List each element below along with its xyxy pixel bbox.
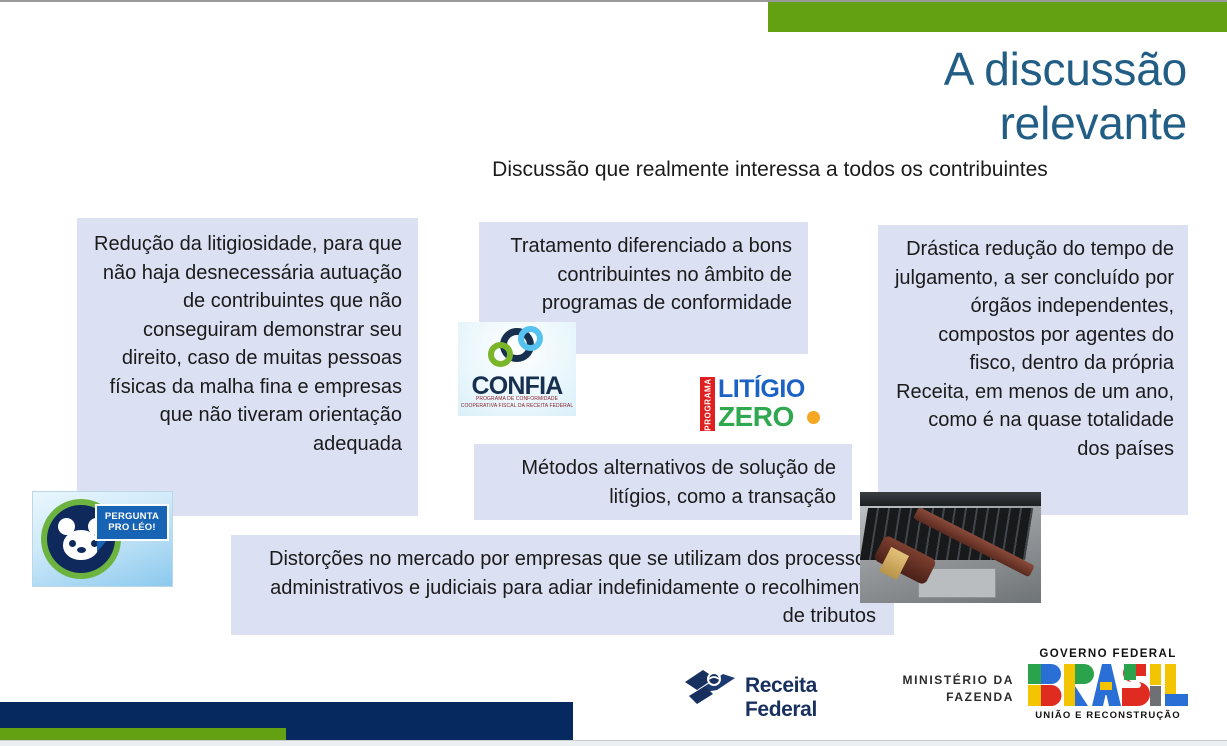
confia-ring-green-icon: [488, 342, 513, 367]
callout-distorcoes-mercado: Distorções no mercado por empresas que s…: [231, 535, 894, 635]
litigio-zero-dot-icon: [807, 411, 820, 424]
slide-canvas: A discussão relevante Discussão que real…: [0, 0, 1227, 746]
governo-federal-bottom-text: UNIÃO E RECONSTRUÇÃO: [1022, 710, 1194, 721]
footer-green-bar: [0, 728, 286, 740]
confia-subtitle-line-2: COOPERATIVA FISCAL DA RECEITA FEDERAL: [458, 403, 576, 410]
callout-reducao-litigiosidade: Redução da litigiosidade, para que não h…: [77, 218, 418, 516]
leo-eye-left-icon: [69, 540, 76, 547]
litigio-zero-line-2: ZERO: [718, 402, 794, 431]
confia-ring-lightblue-icon: [518, 326, 543, 351]
ministerio-line-1: MINISTÉRIO DA: [889, 672, 1014, 689]
brasil-wordmark-icon: [1028, 664, 1188, 706]
governo-federal-top-text: GOVERNO FEDERAL: [1022, 648, 1194, 660]
confia-subtitle: PROGRAMA DE CONFORMIDADE COOPERATIVA FIS…: [458, 396, 576, 409]
callout-drastica-reducao-tempo: Drástica redução do tempo de julgamento,…: [878, 225, 1188, 515]
page-title-line-2: relevante: [690, 96, 1187, 150]
leo-speech-bubble: PERGUNTA PRO LÉO!: [95, 504, 169, 541]
callout-metodos-alternativos: Métodos alternativos de solução de litíg…: [474, 444, 852, 520]
ministerio-line-2: FAZENDA: [889, 689, 1014, 706]
litigio-zero-programa-text: PROGRAMA: [703, 378, 712, 432]
callout-text: Redução da litigiosidade, para que não h…: [94, 233, 402, 455]
receita-federal-logo: Receita Federal: [683, 664, 868, 708]
footer-divider-rule: [0, 740, 1227, 746]
ministerio-da-fazenda-logo: MINISTÉRIO DA FAZENDA: [889, 672, 1014, 708]
litigio-zero-logo: PROGRAMA LITÍGIO ZERO: [698, 375, 844, 433]
leo-bubble-line-1: PERGUNTA: [97, 511, 167, 522]
laptop-screen-icon: [860, 492, 1041, 506]
callout-text: Drástica redução do tempo de julgamento,…: [895, 238, 1174, 460]
governo-federal-logo: GOVERNO FEDERAL: [1022, 648, 1194, 724]
confia-rings-icon: [484, 326, 550, 370]
receita-federal-mark-icon: [683, 666, 741, 706]
leo-nose-icon: [77, 547, 86, 553]
litigio-zero-line-1: LITÍGIO: [718, 376, 805, 403]
top-green-accent-bar: [768, 2, 1227, 32]
page-title: A discussão relevante: [690, 42, 1187, 150]
page-subtitle: Discussão que realmente interessa a todo…: [420, 157, 1120, 183]
callout-text: Distorções no mercado por empresas que s…: [269, 548, 876, 627]
pergunta-pro-leo-logo: PERGUNTA PRO LÉO!: [32, 491, 173, 587]
receita-federal-wordmark: Receita Federal: [745, 674, 868, 722]
gavel-on-laptop-image: [860, 492, 1041, 603]
litigio-zero-programa-label: PROGRAMA: [700, 377, 715, 431]
callout-text: Métodos alternativos de solução de litíg…: [521, 457, 836, 508]
confia-logo: CONFIA PROGRAMA DE CONFORMIDADE COOPERAT…: [458, 322, 576, 416]
page-title-line-1: A discussão: [690, 42, 1187, 96]
callout-text: Tratamento diferenciado a bons contribui…: [510, 235, 792, 314]
leo-bubble-line-2: PRO LÉO!: [97, 522, 167, 533]
